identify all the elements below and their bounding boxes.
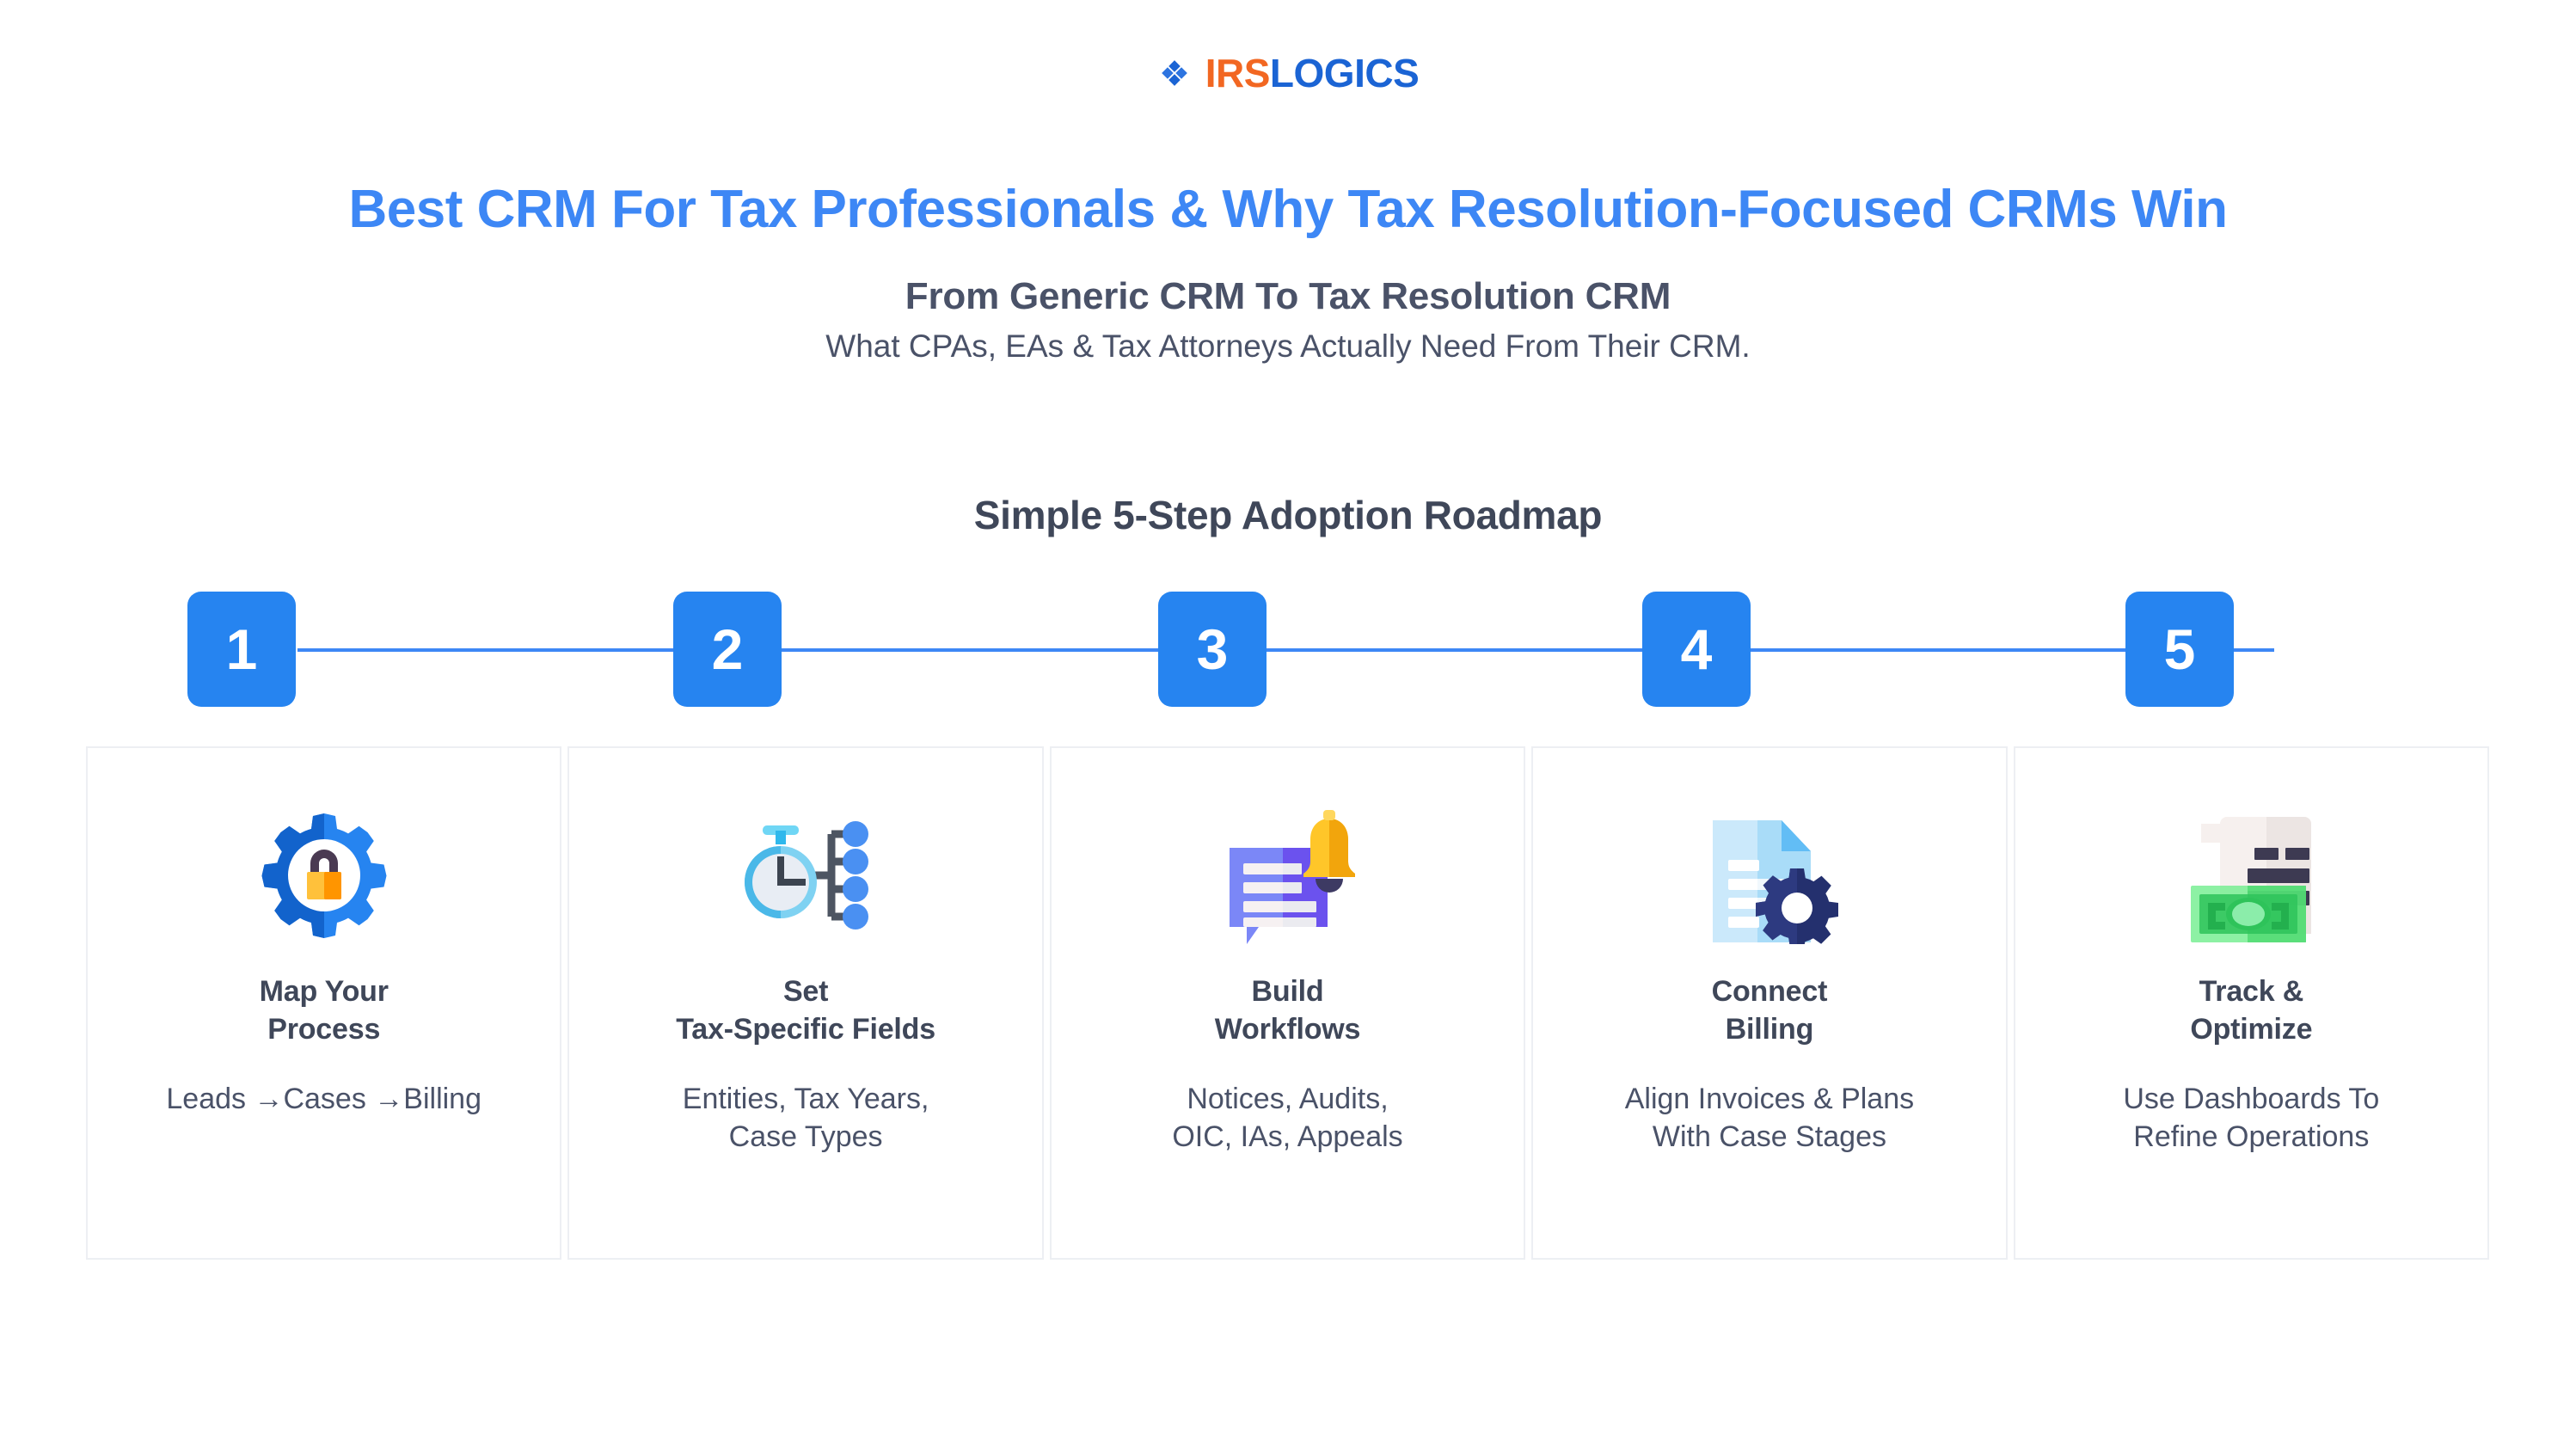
step-badge-2[interactable]: 2	[673, 592, 782, 707]
brand-name-logics: LOGICS	[1270, 53, 1419, 93]
card-title-line1: Build	[1215, 973, 1360, 1011]
card-title-3: Build Workflows	[1215, 973, 1360, 1048]
brand-name-irs: IRS	[1205, 53, 1270, 93]
brand-wordmark: IRSLOGICS	[1205, 53, 1420, 93]
brand-logo: IRSLOGICS	[0, 53, 2576, 93]
card-desc-line1: Use Dashboards To	[2123, 1081, 2379, 1119]
roadmap-cards: Map Your Process Leads →Cases →Billing	[86, 746, 2489, 1260]
roadmap-card-4[interactable]: Connect Billing Align Invoices & Plans W…	[1531, 746, 2007, 1260]
card-desc-line2: Refine Operations	[2123, 1119, 2379, 1157]
diamond-icon	[1157, 56, 1192, 90]
card-title-line1: Track &	[2190, 973, 2312, 1011]
page-tagline: What CPAs, EAs & Tax Attorneys Actually …	[0, 328, 2576, 365]
card-title-line2: Workflows	[1215, 1011, 1360, 1049]
stopwatch-branching-icon	[737, 807, 874, 944]
gear-lock-icon	[255, 807, 393, 944]
document-gear-icon	[1701, 807, 1838, 944]
card-desc-3: Notices, Audits, OIC, IAs, Appeals	[1172, 1081, 1402, 1156]
step-badge-4[interactable]: 4	[1642, 592, 1751, 707]
card-desc-4: Align Invoices & Plans With Case Stages	[1625, 1081, 1914, 1156]
card-desc-line1: Align Invoices & Plans	[1625, 1081, 1914, 1119]
card-desc-line2: Case Types	[683, 1119, 929, 1157]
page-subtitle: From Generic CRM To Tax Resolution CRM	[0, 275, 2576, 318]
card-desc-2: Entities, Tax Years, Case Types	[683, 1081, 929, 1156]
card-title-line2: Billing	[1712, 1011, 1828, 1049]
card-title-line2: Tax-Specific Fields	[676, 1011, 935, 1049]
step-badge-1[interactable]: 1	[187, 592, 296, 707]
roadmap-stepper: 1 2 3 4 5	[86, 592, 2489, 707]
card-desc-line1: Leads →Cases →Billing	[166, 1081, 481, 1119]
step-badge-3[interactable]: 3	[1158, 592, 1267, 707]
card-desc-line1: Entities, Tax Years,	[683, 1081, 929, 1119]
card-title-line1: Set	[676, 973, 935, 1011]
roadmap-card-3[interactable]: Build Workflows Notices, Audits, OIC, IA…	[1050, 746, 1525, 1260]
card-desc-1: Leads →Cases →Billing	[166, 1081, 481, 1119]
receipt-money-icon	[2182, 807, 2320, 944]
card-desc-line2: With Case Stages	[1625, 1119, 1914, 1157]
roadmap-card-1[interactable]: Map Your Process Leads →Cases →Billing	[86, 746, 561, 1260]
step-badge-5[interactable]: 5	[2125, 592, 2234, 707]
card-title-line1: Map Your	[260, 973, 389, 1011]
card-desc-line2: OIC, IAs, Appeals	[1172, 1119, 1402, 1157]
page-title: Best CRM For Tax Professionals & Why Tax…	[0, 179, 2576, 240]
infographic-page: IRSLOGICS Best CRM For Tax Professionals…	[0, 0, 2576, 1448]
stepper-connector-line	[297, 648, 2274, 652]
card-title-line1: Connect	[1712, 973, 1828, 1011]
card-title-4: Connect Billing	[1712, 973, 1828, 1048]
card-title-2: Set Tax-Specific Fields	[676, 973, 935, 1048]
chat-bell-icon	[1219, 807, 1357, 944]
card-desc-5: Use Dashboards To Refine Operations	[2123, 1081, 2379, 1156]
card-title-line2: Process	[260, 1011, 389, 1049]
card-desc-line1: Notices, Audits,	[1172, 1081, 1402, 1119]
card-title-5: Track & Optimize	[2190, 973, 2312, 1048]
card-title-line2: Optimize	[2190, 1011, 2312, 1049]
card-title-1: Map Your Process	[260, 973, 389, 1048]
roadmap-card-5[interactable]: Track & Optimize Use Dashboards To Refin…	[2014, 746, 2489, 1260]
roadmap-card-2[interactable]: Set Tax-Specific Fields Entities, Tax Ye…	[567, 746, 1043, 1260]
section-title: Simple 5-Step Adoption Roadmap	[0, 492, 2576, 538]
